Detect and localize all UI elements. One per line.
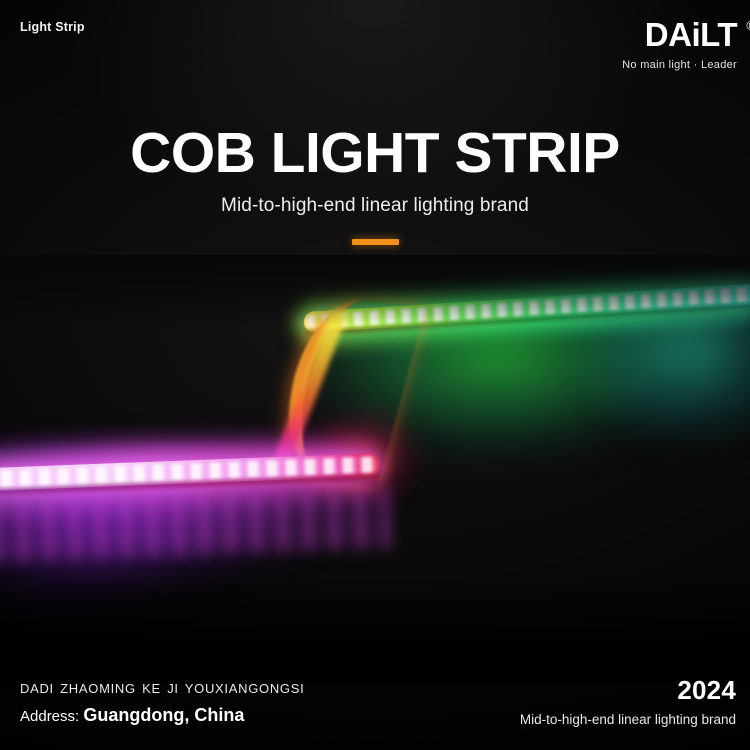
product-photo [0, 255, 750, 685]
page-title: COB LIGHT STRIP [0, 124, 750, 184]
photo-top-fade [0, 255, 750, 325]
address-label: Address: [20, 708, 79, 725]
registered-trademark-icon: ® [746, 19, 750, 32]
company-address: Address: Guangdong, China [20, 704, 304, 727]
poster-canvas: Light Strip DAiLT ® No main light · Lead… [0, 0, 750, 750]
accent-divider [352, 239, 399, 245]
footer-year-block: 2024 Mid-to-high-end linear lighting bra… [520, 675, 736, 728]
address-value: Guangdong, China [83, 705, 244, 725]
category-label: Light Strip [20, 20, 85, 34]
page-subtitle: Mid-to-high-end linear lighting brand [0, 195, 750, 217]
brand-logo-text: DAiLT [645, 16, 737, 53]
year-label: 2024 [520, 675, 736, 706]
hero-block: COB LIGHT STRIP Mid-to-high-end linear l… [0, 124, 750, 245]
company-name-pinyin: DADI ZHAOMING KE JI YOUXIANGONGSI [20, 681, 304, 697]
photo-bottom-fade [0, 575, 750, 685]
brand-logo-wordmark: DAiLT ® [645, 18, 737, 51]
brand-tagline: No main light · Leader [622, 60, 737, 71]
footer-company-block: DADI ZHAOMING KE JI YOUXIANGONGSI Addres… [20, 681, 304, 727]
brand-logo: DAiLT ® No main light · Leader [622, 18, 737, 71]
footer-slogan: Mid-to-high-end linear lighting brand [520, 712, 736, 728]
